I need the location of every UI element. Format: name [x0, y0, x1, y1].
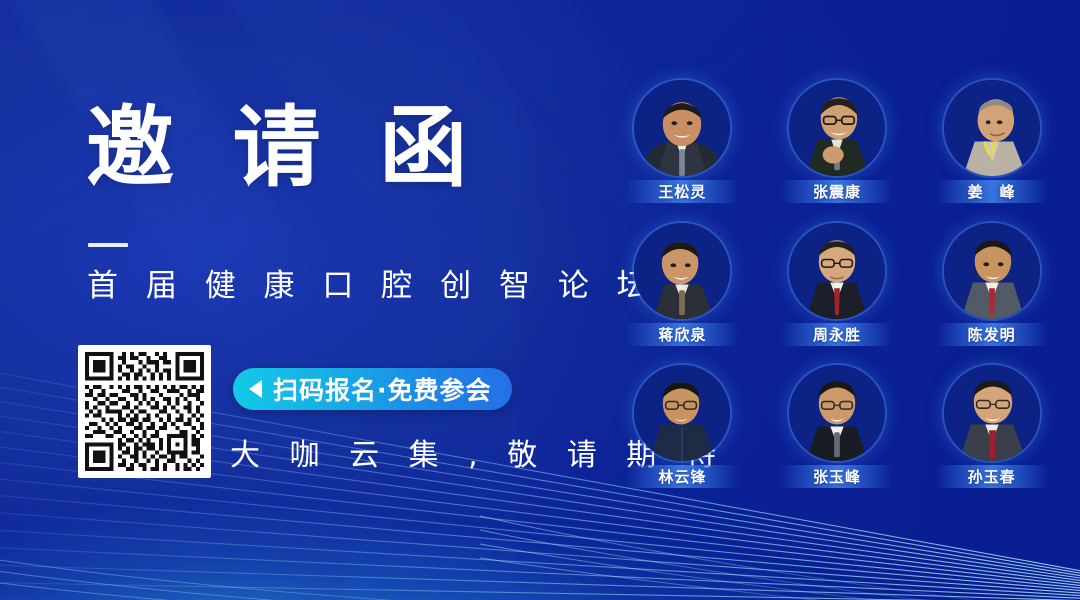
scan-register-label: 扫码报名·免费参会 [273, 371, 492, 407]
speaker-name: 周永胜 [813, 324, 861, 345]
title-divider [88, 243, 128, 247]
speaker-card[interactable]: 周永胜 [767, 223, 908, 358]
speaker-name: 王松灵 [658, 181, 706, 202]
nameplate: 周永胜 [781, 323, 893, 346]
speaker-name: 陈发明 [968, 324, 1016, 345]
speaker-name: 蒋欣泉 [658, 324, 706, 345]
avatar-photo [789, 80, 885, 176]
page-title: 邀 请 函 [86, 104, 481, 192]
speaker-name: 张震康 [813, 181, 861, 202]
speaker-card[interactable]: 陈发明 [921, 223, 1062, 358]
nameplate: 王松灵 [626, 180, 738, 203]
speaker-card[interactable]: 孙玉春 [921, 365, 1062, 500]
avatar [634, 223, 730, 319]
speaker-name: 姜 峰 [968, 181, 1016, 202]
nameplate: 林云锋 [626, 465, 738, 488]
avatar [789, 365, 885, 461]
avatar [944, 223, 1040, 319]
nameplate: 蒋欣泉 [626, 323, 738, 346]
avatar [789, 223, 885, 319]
avatar [789, 80, 885, 176]
page-subtitle: 首 届 健 康 口 腔 创 智 论 坛 [87, 268, 657, 305]
speaker-name: 孙玉春 [968, 466, 1016, 487]
speaker-card[interactable]: 林云锋 [612, 365, 753, 500]
scan-register-button[interactable]: 扫码报名·免费参会 [233, 368, 512, 410]
avatar-photo [944, 365, 1040, 461]
qr-code[interactable] [78, 345, 211, 478]
avatar-photo [634, 365, 730, 461]
avatar-photo [789, 365, 885, 461]
speaker-card[interactable]: 张玉峰 [767, 365, 908, 500]
nameplate: 陈发明 [936, 323, 1048, 346]
nameplate: 姜 峰 [936, 180, 1048, 203]
speaker-card[interactable]: 姜 峰 [921, 80, 1062, 215]
triangle-left-icon [249, 380, 262, 398]
avatar [944, 80, 1040, 176]
avatar [634, 365, 730, 461]
avatar-photo [789, 223, 885, 319]
speaker-grid: 王松灵 [612, 80, 1062, 500]
nameplate: 张玉峰 [781, 465, 893, 488]
speaker-card[interactable]: 张震康 [767, 80, 908, 215]
invitation-poster: 邀 请 函 首 届 健 康 口 腔 创 智 论 坛 [0, 0, 1080, 600]
nameplate: 孙玉春 [936, 465, 1048, 488]
left-content-column: 邀 请 函 首 届 健 康 口 腔 创 智 论 坛 [78, 0, 598, 600]
avatar-photo [634, 80, 730, 176]
speaker-card[interactable]: 蒋欣泉 [612, 223, 753, 358]
nameplate: 张震康 [781, 180, 893, 203]
avatar-photo [944, 80, 1040, 176]
speaker-name: 林云锋 [658, 466, 706, 487]
avatar [944, 365, 1040, 461]
speaker-card[interactable]: 王松灵 [612, 80, 753, 215]
speaker-name: 张玉峰 [813, 466, 861, 487]
avatar-photo [634, 223, 730, 319]
avatar-photo [944, 223, 1040, 319]
avatar [634, 80, 730, 176]
